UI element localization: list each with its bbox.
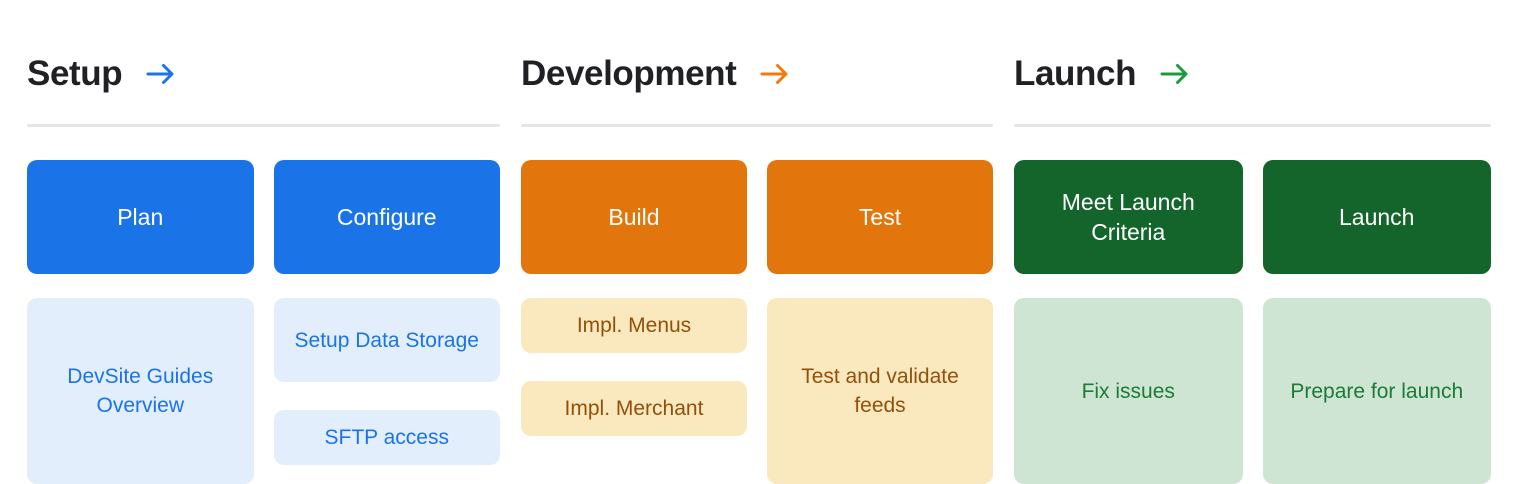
primary-card-configure[interactable]: Configure: [274, 160, 501, 274]
stage-title-launch: Launch: [1014, 54, 1136, 94]
stage-column-launch: Launch Meet Launch Criteria Fix issues L…: [1014, 0, 1518, 484]
stage-header-development: Development: [521, 0, 993, 124]
stage-header-launch: Launch: [1014, 0, 1491, 124]
primary-card-plan[interactable]: Plan: [27, 160, 254, 274]
stage-body-setup: Plan DevSite Guides Overview Configure S…: [27, 127, 500, 484]
sub-card[interactable]: Impl. Merchant: [521, 381, 747, 436]
subcards-meet-launch-criteria: Fix issues: [1014, 298, 1243, 484]
primary-card-build[interactable]: Build: [521, 160, 747, 274]
stage-column-development: Development Build Impl. Menus Impl. Merc…: [521, 0, 1014, 484]
track-configure: Configure Setup Data Storage SFTP access: [274, 160, 501, 484]
stage-title-development: Development: [521, 54, 736, 94]
arrow-right-icon: [144, 57, 178, 91]
stage-body-development: Build Impl. Menus Impl. Merchant Test Te…: [521, 127, 993, 484]
subcards-configure: Setup Data Storage SFTP access: [274, 298, 501, 484]
track-test: Test Test and validate feeds: [767, 160, 993, 484]
subcards-plan: DevSite Guides Overview: [27, 298, 254, 484]
sub-card[interactable]: DevSite Guides Overview: [27, 298, 254, 484]
stage-column-setup: Setup Plan DevSite Guides Overview Confi…: [0, 0, 521, 484]
arrow-right-icon: [1158, 57, 1192, 91]
track-plan: Plan DevSite Guides Overview: [27, 160, 254, 484]
sub-card[interactable]: Test and validate feeds: [767, 298, 993, 484]
primary-card-launch[interactable]: Launch: [1263, 160, 1492, 274]
sub-card[interactable]: Impl. Menus: [521, 298, 747, 353]
sub-card[interactable]: Fix issues: [1014, 298, 1243, 484]
sub-card[interactable]: Prepare for launch: [1263, 298, 1492, 484]
sub-card[interactable]: SFTP access: [274, 410, 501, 465]
sub-card[interactable]: Setup Data Storage: [274, 298, 501, 382]
arrow-right-icon: [758, 57, 792, 91]
stage-title-setup: Setup: [27, 54, 122, 94]
subcards-launch: Prepare for launch: [1263, 298, 1492, 484]
subcards-build: Impl. Menus Impl. Merchant: [521, 298, 747, 484]
track-build: Build Impl. Menus Impl. Merchant: [521, 160, 747, 484]
track-launch: Launch Prepare for launch: [1263, 160, 1492, 484]
stage-header-setup: Setup: [27, 0, 500, 124]
primary-card-meet-launch-criteria[interactable]: Meet Launch Criteria: [1014, 160, 1243, 274]
primary-card-test[interactable]: Test: [767, 160, 993, 274]
stage-body-launch: Meet Launch Criteria Fix issues Launch P…: [1014, 127, 1491, 484]
subcards-test: Test and validate feeds: [767, 298, 993, 484]
roadmap-board: Setup Plan DevSite Guides Overview Confi…: [0, 0, 1518, 484]
track-meet-launch-criteria: Meet Launch Criteria Fix issues: [1014, 160, 1243, 484]
